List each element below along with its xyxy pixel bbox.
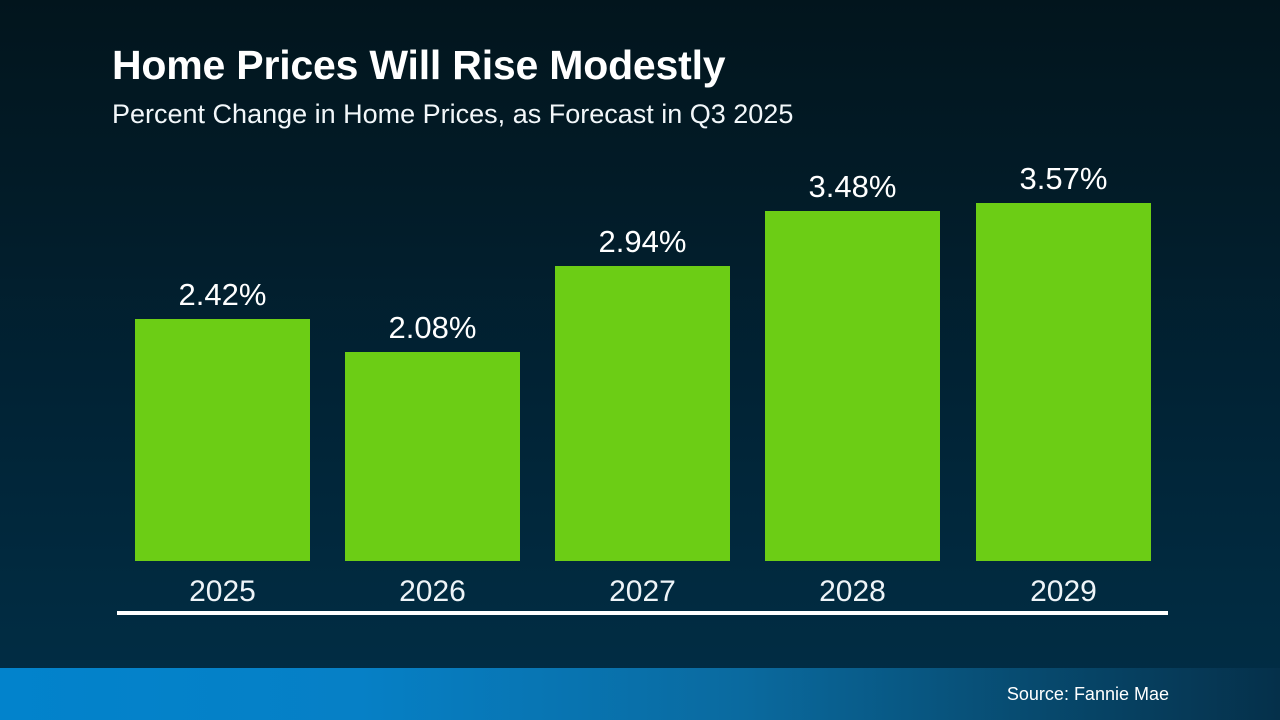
bar-group: 3.48% 2028 — [765, 211, 940, 561]
bar-rect[interactable] — [345, 352, 520, 561]
source-attribution: Source: Fannie Mae — [1007, 683, 1169, 705]
bar-group: 2.42% 2025 — [135, 319, 310, 561]
bar-category-label: 2027 — [537, 574, 748, 610]
bar-group: 2.08% 2026 — [345, 352, 520, 561]
bar-value-label: 3.57% — [976, 161, 1151, 197]
bar-chart-plot-area: 2.42% 2025 2.08% 2026 2.94% 2027 3.48% 2… — [0, 0, 1280, 668]
footer-bar: Source: Fannie Mae — [0, 668, 1280, 720]
bar-rect[interactable] — [765, 211, 940, 561]
bar-category-label: 2025 — [117, 574, 328, 610]
bar-group: 2.94% 2027 — [555, 266, 730, 561]
bar-value-label: 2.94% — [555, 224, 730, 260]
chart-slide: Home Prices Will Rise Modestly Percent C… — [0, 0, 1280, 720]
bar-value-label: 2.08% — [345, 310, 520, 346]
bar-group: 3.57% 2029 — [976, 203, 1151, 561]
bar-rect[interactable] — [555, 266, 730, 561]
bar-category-label: 2028 — [747, 574, 958, 610]
bar-category-label: 2026 — [327, 574, 538, 610]
x-axis-line — [117, 611, 1168, 615]
bar-value-label: 2.42% — [135, 277, 310, 313]
bar-category-label: 2029 — [958, 574, 1169, 610]
bar-value-label: 3.48% — [765, 169, 940, 205]
bar-rect[interactable] — [135, 319, 310, 561]
bar-rect[interactable] — [976, 203, 1151, 561]
